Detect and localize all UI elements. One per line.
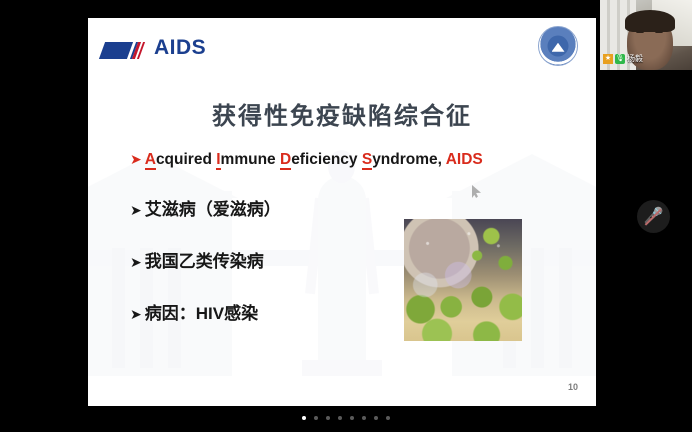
participant-eye-left [636, 30, 644, 33]
host-badge-icon: ★ [603, 54, 613, 64]
bullet-item-2: ➤ 艾滋病（爱滋病） [130, 195, 550, 220]
mic-slash [645, 208, 662, 225]
slide-title: 获得性免疫缺陷综合征 [88, 96, 596, 131]
seal-inner [548, 36, 569, 57]
participant-eye-right [655, 30, 663, 33]
bullet-arrow-icon: ➤ [130, 306, 142, 323]
meeting-stage: AIDS 获得性免疫缺陷综合征 ➤ Acquired Immune Defici… [0, 0, 692, 432]
participant-name-badge: ★ 🎙 杨毅 [603, 53, 643, 64]
bullet-word-syndrome: yndrome, [372, 151, 446, 168]
bullet-text-4: 病因：HIV感染 [145, 299, 258, 324]
slide-page-number: 10 [568, 382, 578, 392]
bullet-cap-s: S [362, 151, 372, 170]
bullet-text-3: 我国乙类传染病 [145, 247, 264, 272]
bullet-word-acquired: cquired [156, 151, 216, 168]
bullet-word-aids: AIDS [446, 151, 483, 168]
bullet-arrow-icon: ➤ [130, 151, 142, 168]
bullet-word-deficiency: eficiency [291, 151, 362, 168]
slide-header: AIDS [88, 18, 596, 74]
participant-hair [625, 10, 675, 32]
pager-dot-1[interactable] [302, 416, 306, 420]
hiv-virions-micrograph [404, 219, 522, 341]
university-seal-icon [538, 26, 578, 66]
slide-pager[interactable] [0, 416, 692, 420]
seal-arch [552, 43, 565, 52]
bullet-cap-d: D [280, 151, 291, 170]
watermark-statue-base [302, 360, 382, 376]
watermark-column [559, 248, 572, 368]
microphone-on-icon: 🎙 [615, 54, 625, 64]
pager-dot-6[interactable] [362, 416, 366, 420]
pager-dot-3[interactable] [326, 416, 330, 420]
pager-dot-5[interactable] [350, 416, 354, 420]
bullet-arrow-icon: ➤ [130, 254, 142, 271]
bullet-word-immune: mmune [221, 151, 280, 168]
bullet-item-english: ➤ Acquired Immune Deficiency Syndrome, A… [130, 151, 550, 169]
bullet-text-2: 艾滋病（爱滋病） [145, 195, 281, 220]
pager-dot-7[interactable] [374, 416, 378, 420]
bullet-text-english: Acquired Immune Deficiency Syndrome, AID… [145, 151, 483, 169]
participant-name: 杨毅 [627, 53, 643, 64]
microphone-muted-icon[interactable]: 🎤 [637, 200, 670, 233]
bullet-cap-a: A [145, 151, 156, 170]
aids-logo-mark-icon [102, 42, 146, 59]
participant-video-tile[interactable]: ★ 🎙 杨毅 [600, 0, 692, 70]
slide-logo-text: AIDS [154, 36, 206, 60]
watermark-column [112, 248, 125, 368]
presentation-slide[interactable]: AIDS 获得性免疫缺陷综合征 ➤ Acquired Immune Defici… [88, 18, 596, 406]
bullet-arrow-icon: ➤ [130, 202, 142, 219]
pager-dot-2[interactable] [314, 416, 318, 420]
mic-glyph: 🎤 [644, 209, 664, 225]
pager-dot-4[interactable] [338, 416, 342, 420]
pager-dot-8[interactable] [386, 416, 390, 420]
